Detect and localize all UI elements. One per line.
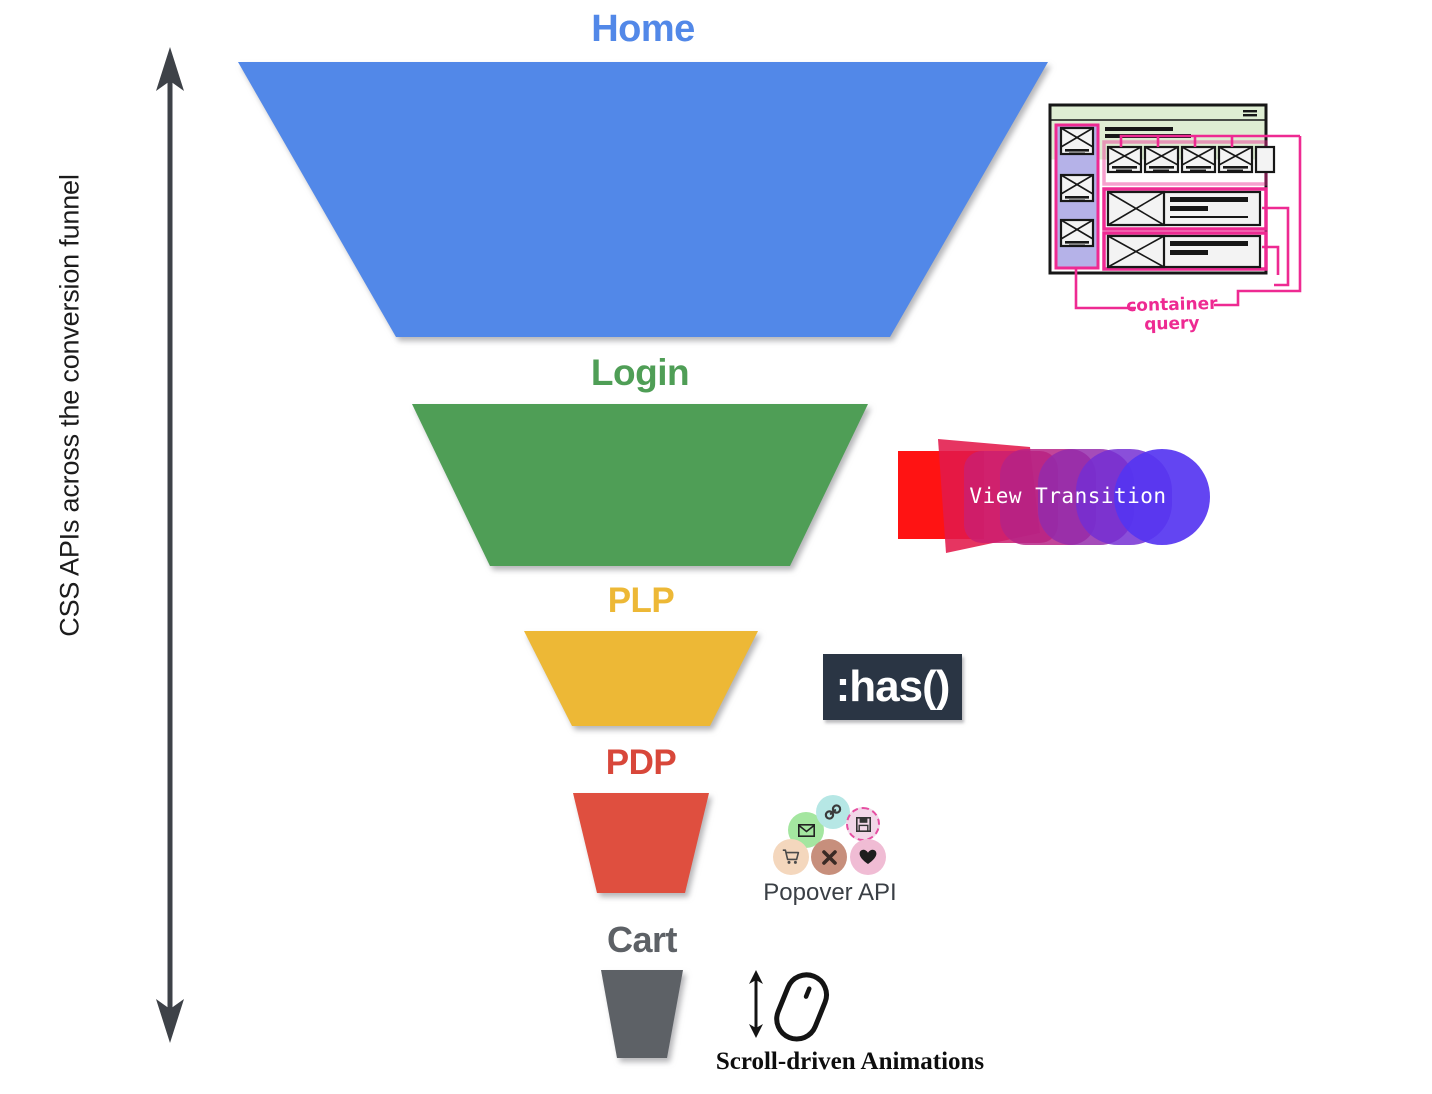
floppy-disk-glyph <box>856 817 871 832</box>
scroll-driven-animations-label: Scroll-driven Animations <box>640 1048 1060 1076</box>
funnel-shape-pdp <box>573 793 709 893</box>
envelope-glyph <box>798 824 815 837</box>
shopping-cart-icon[interactable] <box>773 839 809 875</box>
funnel-stage-pdp-label: PDP <box>573 745 709 780</box>
link-icon[interactable] <box>816 795 850 829</box>
funnel-stage-login[interactable]: Login <box>412 404 868 566</box>
shopping-cart-glyph <box>782 849 800 865</box>
view-transition-illustration: View Transition <box>890 437 1220 555</box>
funnel-shape-plp <box>524 631 758 726</box>
funnel-stage-home-label: Home <box>238 10 1048 48</box>
conversion-funnel-axis <box>150 45 190 1045</box>
funnel-shape-home <box>238 62 1048 337</box>
funnel-shape-login <box>412 404 868 566</box>
funnel-stage-login-label: Login <box>412 354 868 391</box>
floppy-disk-icon[interactable] <box>846 807 880 841</box>
link-glyph <box>824 803 842 821</box>
funnel-stage-plp[interactable]: PLP <box>524 631 758 726</box>
heart-icon[interactable] <box>850 839 886 875</box>
has-selector-label: :has() <box>836 665 950 709</box>
funnel-stage-plp-label: PLP <box>524 583 758 618</box>
close-x-glyph <box>821 849 838 866</box>
vertical-double-arrow-icon <box>749 970 763 1038</box>
double-arrow-vertical-icon <box>150 45 190 1045</box>
funnel-stage-cart-label: Cart <box>601 922 683 958</box>
mouse-scroll-icon <box>740 968 840 1048</box>
svg-text:query: query <box>1144 313 1200 334</box>
funnel-stage-pdp[interactable]: PDP <box>573 793 709 893</box>
container-query-label: container query <box>1126 294 1218 335</box>
heart-glyph <box>859 849 877 865</box>
popover-api-label: Popover API <box>700 879 960 907</box>
svg-text:container: container <box>1126 294 1218 316</box>
funnel-stage-home[interactable]: Home <box>238 62 1048 337</box>
view-transition-label: View Transition <box>890 437 1220 555</box>
axis-label: CSS APIs across the conversion funnel <box>55 166 86 646</box>
container-query-illustration: container query <box>1038 95 1306 345</box>
has-selector-badge: :has() <box>823 654 962 720</box>
close-x-icon[interactable] <box>811 839 847 875</box>
funnel-shape-cart <box>601 970 683 1058</box>
popover-api-icon-cluster[interactable] <box>770 795 895 875</box>
mouse-scroll-glyph <box>740 968 840 1048</box>
funnel-stage-cart[interactable]: Cart <box>601 970 683 1058</box>
container-query-wireframe: container query <box>1038 95 1306 345</box>
